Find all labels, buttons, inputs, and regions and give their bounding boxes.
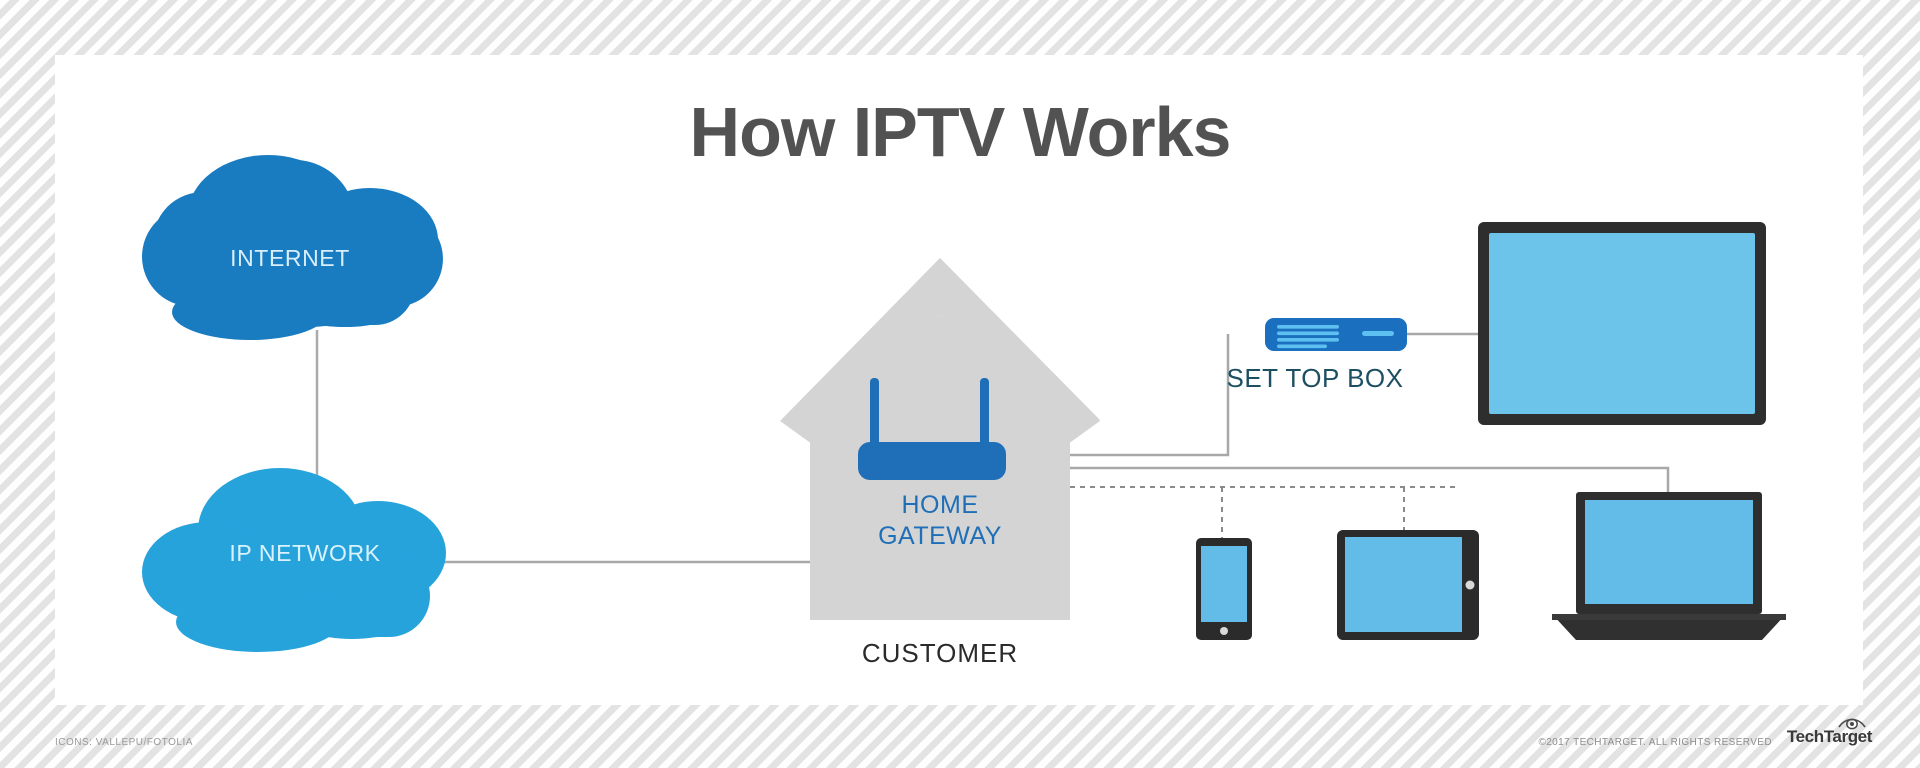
- home-gateway-label-line1: HOME: [795, 490, 1085, 521]
- brand-tech: Tech: [1787, 727, 1824, 746]
- diagram-canvas: How IPTV Works INTERNET IP NETWORK HOME …: [0, 0, 1920, 768]
- set-top-box-shape: [1265, 318, 1407, 351]
- home-gateway-label: HOME GATEWAY: [795, 490, 1085, 552]
- home-gateway-label-line2: GATEWAY: [795, 521, 1085, 552]
- tablet-shape: [1337, 530, 1479, 640]
- eye-icon: [1837, 715, 1867, 735]
- icon-credit: ICONS: VALLEPU/FOTOLIA: [55, 737, 193, 748]
- set-top-box-label: SET TOP BOX: [1150, 363, 1480, 394]
- smartphone-shape: [1196, 538, 1252, 640]
- copyright-notice: ©2017 TECHTARGET. ALL RIGHTS RESERVED: [1538, 737, 1772, 748]
- customer-label: CUSTOMER: [795, 638, 1085, 669]
- television-shape: [1478, 222, 1766, 425]
- house-shape: [780, 258, 1100, 620]
- ipnetwork-cloud-label: IP NETWORK: [160, 540, 450, 567]
- techtarget-logo: TechTarget: [1787, 727, 1872, 747]
- laptop-shape: [1552, 492, 1786, 640]
- internet-cloud-label: INTERNET: [180, 245, 400, 272]
- page-title: How IPTV Works: [560, 92, 1360, 172]
